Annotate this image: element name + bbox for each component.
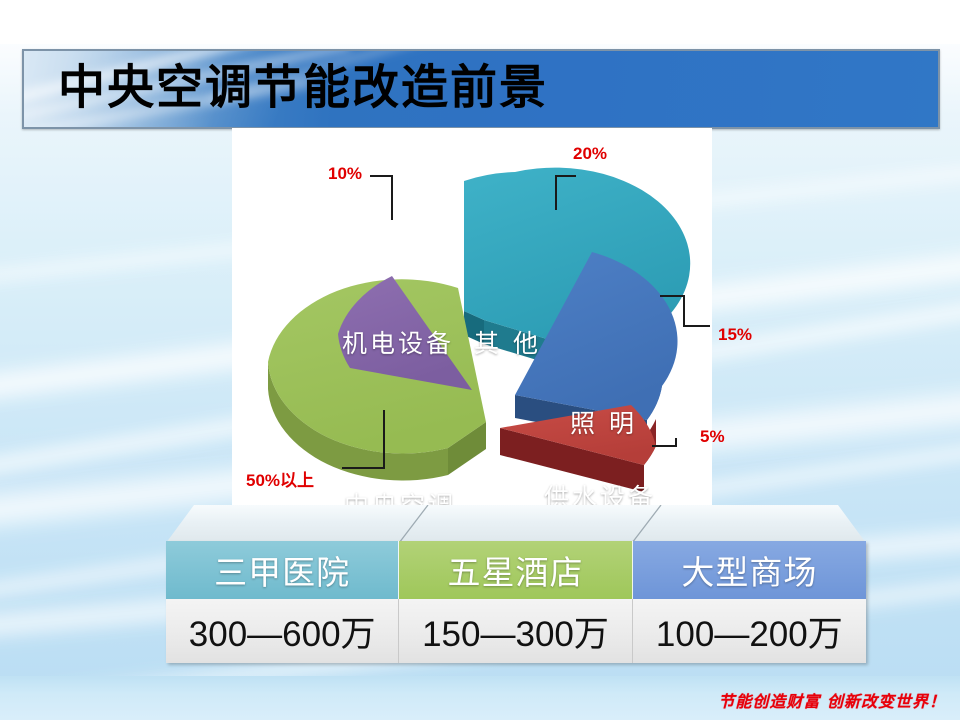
table-header-hotel: 五星酒店: [399, 541, 632, 599]
table-cell-hospital-value: 300—600万: [166, 599, 399, 663]
table-cell-mall-value: 100—200万: [633, 599, 866, 663]
pie-percent-water: 5%: [700, 427, 725, 447]
top-white-margin: [0, 0, 960, 44]
table-column: 大型商场 100—200万: [633, 541, 866, 663]
pie-percent-lighting: 15%: [718, 325, 752, 345]
table-cell-hotel-value: 150—300万: [399, 599, 632, 663]
page-title: 中央空调节能改造前景: [58, 65, 548, 112]
segment-table: 三甲医院 300—600万 五星酒店 150—300万 大型商场 100—200…: [166, 505, 866, 665]
table-top-seams: [166, 505, 866, 545]
slide-canvas: 中央空调节能改造前景: [0, 0, 960, 720]
pie-chart-svg: [232, 128, 712, 506]
table-column: 五星酒店 150—300万: [399, 541, 632, 663]
pie-percent-central-ac: 50%以上: [246, 466, 314, 491]
table-column: 三甲医院 300—600万: [166, 541, 399, 663]
pie-percent-electromech: 10%: [328, 164, 362, 184]
pie-chart: 机电设备 其 他 照 明 供水设备 中央空调: [232, 128, 712, 506]
pie-chart-panel: 机电设备 其 他 照 明 供水设备 中央空调: [232, 128, 712, 506]
table-grid: 三甲医院 300—600万 五星酒店 150—300万 大型商场 100—200…: [166, 541, 866, 663]
leader-line-electromech: [370, 176, 392, 220]
pie-percent-other: 20%: [573, 144, 607, 164]
table-header-hospital: 三甲医院: [166, 541, 399, 599]
table-header-mall: 大型商场: [633, 541, 866, 599]
footer-slogan: 节能创造财富 创新改变世界！: [718, 688, 946, 712]
slide-title-bar: 中央空调节能改造前景: [22, 49, 940, 129]
